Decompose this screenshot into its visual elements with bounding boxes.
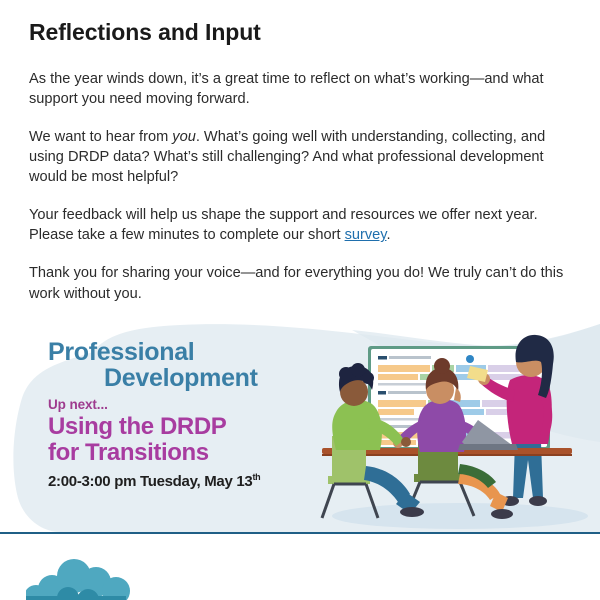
section-divider [0, 532, 600, 534]
promo-heading-development: Development [48, 365, 348, 391]
article-body: Reflections and Input As the year winds … [0, 0, 600, 304]
footer-foliage-decoration [26, 556, 206, 600]
survey-link[interactable]: survey [345, 227, 387, 243]
professional-development-promo-banner[interactable]: Professional Development Up next... Usin… [0, 318, 600, 532]
promo-session-title-line1: Using the DRDP [48, 412, 348, 440]
newsletter-page: Reflections and Input As the year winds … [0, 0, 600, 600]
paragraph-questions: We want to hear from you. What’s going w… [29, 109, 570, 187]
paragraph-intro: As the year winds down, it’s a great tim… [29, 47, 570, 109]
promo-copy: Professional Development Up next... Usin… [48, 339, 348, 490]
promo-session-datetime-text: 2:00-3:00 pm Tuesday, May 13 [48, 473, 252, 490]
paragraph-thanks: Thank you for sharing your voice—and for… [29, 245, 570, 303]
floor-shadow [332, 503, 588, 529]
promo-session-datetime: 2:00-3:00 pm Tuesday, May 13th [48, 467, 348, 490]
page-title: Reflections and Input [29, 0, 570, 47]
promo-heading-professional: Professional [48, 339, 348, 365]
paragraph-questions-pre: We want to hear from [29, 129, 172, 145]
paragraph-feedback-pre: Your feedback will help us shape the sup… [29, 207, 538, 243]
meeting-illustration [310, 324, 595, 532]
paragraph-feedback-post: . [386, 227, 390, 243]
paragraph-feedback: Your feedback will help us shape the sup… [29, 187, 570, 245]
promo-up-next-label: Up next... [48, 391, 348, 412]
promo-session-title-line2: for Transitions [48, 440, 348, 466]
emphasis-you: you [172, 129, 196, 145]
promo-session-date-suffix: th [252, 472, 260, 482]
